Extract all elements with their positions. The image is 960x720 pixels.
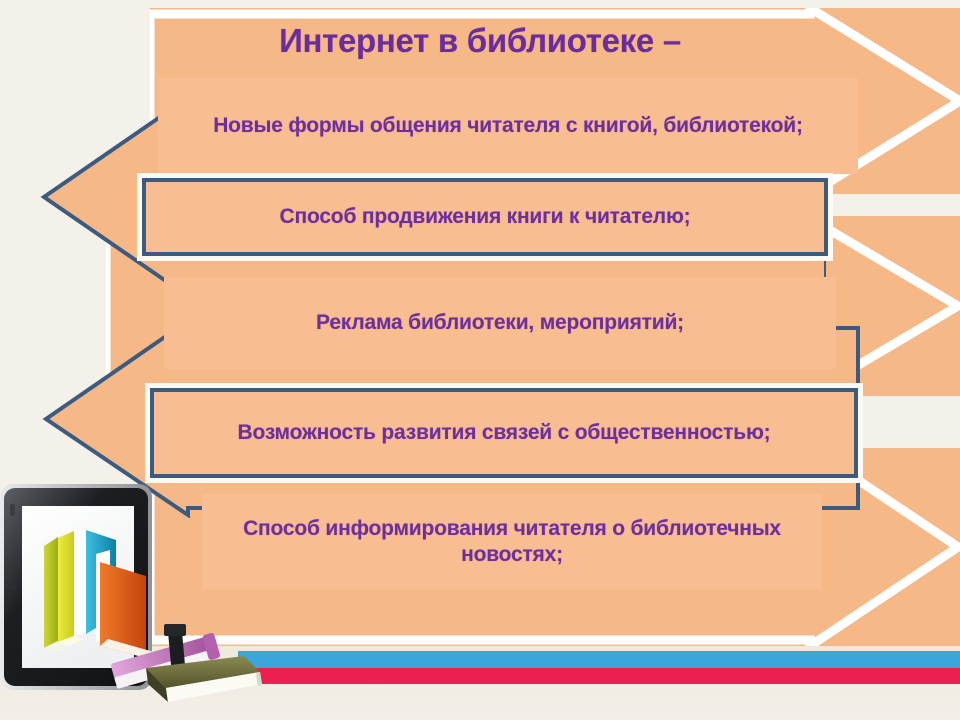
decor-bar-red xyxy=(256,668,960,684)
page-title: Интернет в библиотеке – xyxy=(160,22,800,60)
slide-canvas: Новые формы общения читателя с книгой, б… xyxy=(0,0,960,720)
item-label-1: Новые формы общения читателя с книгой, б… xyxy=(203,113,813,139)
item-label-3: Реклама библиотеки, мероприятий; xyxy=(306,310,694,336)
item-label-5: Способ информирования читателя о библиот… xyxy=(202,516,822,567)
item-textbox-4[interactable]: Возможность развития связей с общественн… xyxy=(150,388,858,478)
item-label-4: Возможность развития связей с общественн… xyxy=(228,420,781,446)
item-label-2: Способ продвижения книги к читателю; xyxy=(270,204,701,230)
item-textbox-1[interactable]: Новые формы общения читателя с книгой, б… xyxy=(158,78,858,174)
decor-bar-blue xyxy=(238,651,960,668)
item-textbox-5[interactable]: Способ информирования читателя о библиот… xyxy=(202,494,822,590)
item-textbox-3[interactable]: Реклама библиотеки, мероприятий; xyxy=(164,277,836,369)
item-textbox-2[interactable]: Способ продвижения книги к читателю; xyxy=(142,178,828,256)
